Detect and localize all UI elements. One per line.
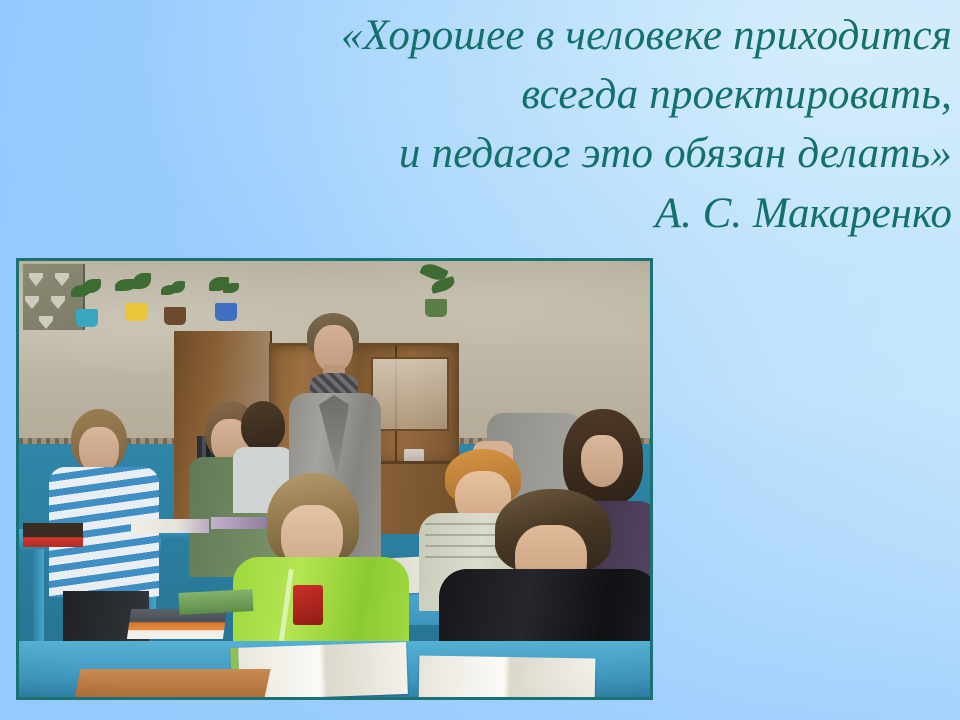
classroom-photo [16,258,653,700]
book-stack [127,609,227,639]
student-head [241,401,285,451]
student-face [581,435,623,487]
plant-pot [125,303,147,321]
coat-hook-icon [39,316,53,329]
wooden-desk-edge [73,669,270,697]
quote-author: А. С. Макаренко [120,183,952,245]
coat-hook-icon [29,273,43,286]
desk-red-box [23,523,83,547]
quote-line-1: «Хорошее в человеке приходится [120,6,952,65]
coat-hook-icon [51,296,65,309]
presentation-slide: «Хорошее в человеке приходится всегда пр… [0,0,960,720]
plant-pot [215,303,237,321]
classroom-photo-content [19,261,650,697]
plant-pot [164,307,186,325]
coat-hook-icon [25,296,39,309]
desk-leg [33,549,44,641]
open-book [419,655,596,697]
quote-block: «Хорошее в человеке приходится всегда пр… [120,6,952,245]
coat-hook-icon [55,273,69,286]
hoodie-patch [293,585,323,625]
quote-line-3: и педагог это обязан делать» [120,124,952,183]
plant-pot [425,299,447,317]
quote-line-2: всегда проектировать, [120,65,952,124]
plant-pot [76,309,98,327]
desk-items [131,519,209,533]
green-notebook [178,589,253,615]
